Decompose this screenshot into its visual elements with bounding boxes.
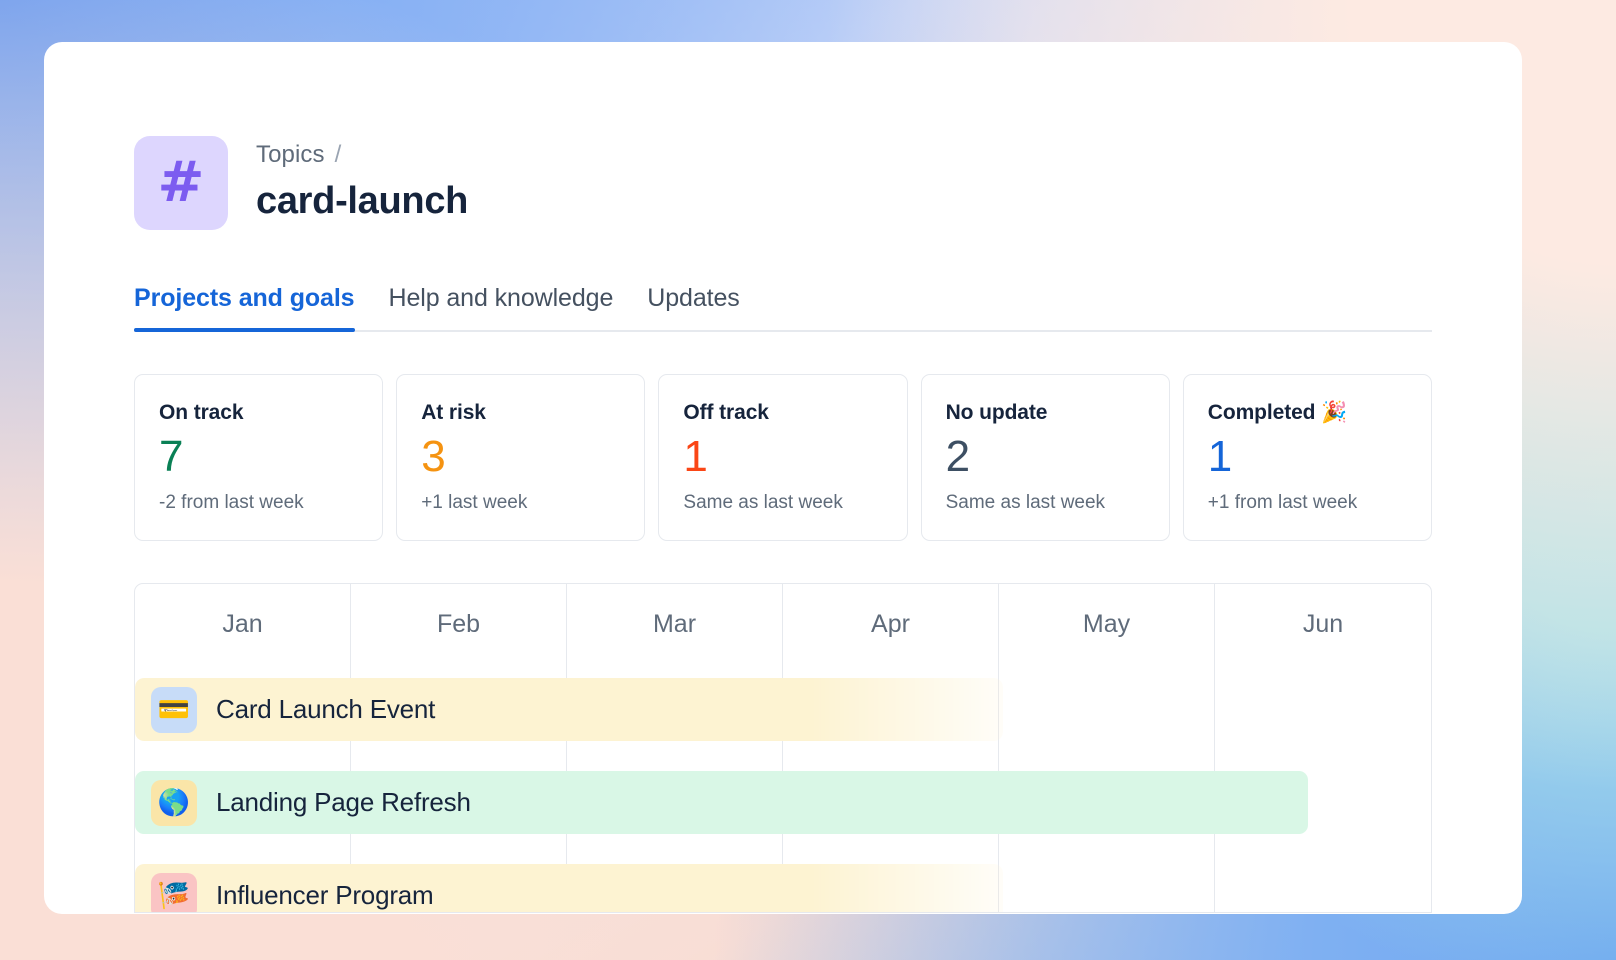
hash-icon: # [134,136,228,230]
stat-label: No update [946,401,1145,425]
page-root: { "header": { "icon": "hash-icon", "icon… [0,0,1616,960]
timeline-row: 🌎 Landing Page Refresh [135,757,1431,850]
stat-card-on-track[interactable]: On track 7 -2 from last week [134,374,383,541]
project-timeline: Jan Feb Mar Apr May Jun 💳 Card [134,583,1432,913]
stat-value: 2 [946,435,1145,479]
stat-card-no-update[interactable]: No update 2 Same as last week [921,374,1170,541]
app-window: # Topics/ card-launch Projects and goals… [44,42,1522,914]
breadcrumb-parent[interactable]: Topics [256,141,325,168]
stat-delta: Same as last week [946,492,1145,514]
carp-streamer-emoji: 🎏 [151,873,197,914]
timeline-bar-influencer-program[interactable]: 🎏 Influencer Program [135,864,1003,913]
stat-value: 1 [1208,435,1407,479]
timeline-bar-label: Card Launch Event [216,694,435,725]
timeline-row: 💳 Card Launch Event [135,664,1431,757]
stat-label: Off track [683,401,882,425]
stat-card-off-track[interactable]: Off track 1 Same as last week [658,374,907,541]
globe-emoji: 🌎 [151,780,197,826]
status-summary-cards: On track 7 -2 from last week At risk 3 +… [134,374,1432,541]
timeline-bar-landing-page-refresh[interactable]: 🌎 Landing Page Refresh [135,771,1308,834]
credit-card-emoji: 💳 [151,687,197,733]
breadcrumb-separator: / [335,141,342,168]
stat-label: At risk [421,401,620,425]
timeline-month-may: May [999,584,1215,664]
breadcrumb: Topics/ [256,141,468,170]
header-text-group: Topics/ card-launch [256,141,468,225]
stat-value: 3 [421,435,620,479]
page-title: card-launch [256,178,468,226]
page-content: # Topics/ card-launch Projects and goals… [44,42,1522,913]
timeline-month-feb: Feb [351,584,567,664]
tab-updates[interactable]: Updates [647,284,739,330]
tab-projects-and-goals[interactable]: Projects and goals [134,284,355,330]
page-header: # Topics/ card-launch [134,42,1432,230]
stat-card-completed[interactable]: Completed 🎉 1 +1 from last week [1183,374,1432,541]
stat-card-at-risk[interactable]: At risk 3 +1 last week [396,374,645,541]
hash-glyph: # [158,155,205,211]
timeline-month-jun: Jun [1215,584,1431,664]
stat-label: Completed 🎉 [1208,401,1407,425]
stat-delta: +1 last week [421,492,620,514]
timeline-bar-label: Influencer Program [216,880,434,911]
stat-value: 7 [159,435,358,479]
tab-bar: Projects and goals Help and knowledge Up… [134,284,1432,332]
stat-delta: +1 from last week [1208,492,1407,514]
stat-value: 1 [683,435,882,479]
timeline-month-header: Jan Feb Mar Apr May Jun [135,584,1431,664]
stat-delta: Same as last week [683,492,882,514]
timeline-month-jan: Jan [135,584,351,664]
timeline-row: 🎏 Influencer Program [135,850,1431,913]
stat-delta: -2 from last week [159,492,358,514]
timeline-rows: 💳 Card Launch Event 🌎 Landing Page Refre… [135,664,1431,912]
timeline-bar-card-launch-event[interactable]: 💳 Card Launch Event [135,678,1003,741]
tab-help-and-knowledge[interactable]: Help and knowledge [389,284,614,330]
timeline-month-apr: Apr [783,584,999,664]
stat-label: On track [159,401,358,425]
timeline-month-mar: Mar [567,584,783,664]
timeline-bar-label: Landing Page Refresh [216,787,471,818]
